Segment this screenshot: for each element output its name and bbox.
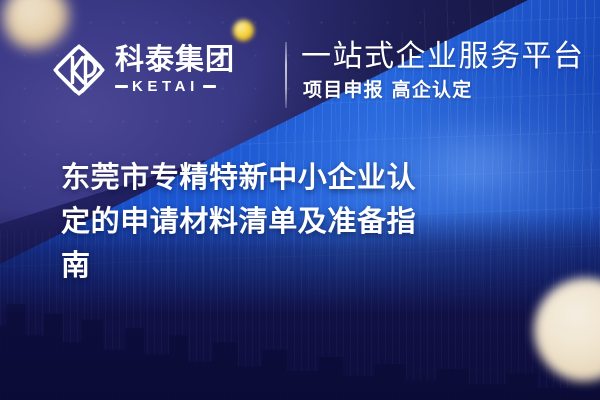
vertical-divider <box>285 42 287 108</box>
brand-logo[interactable]: 科泰集团 KETAI <box>52 43 235 97</box>
dash-left-icon <box>115 85 128 88</box>
brand-name-latin: KETAI <box>132 78 199 95</box>
brand-wordmark: 科泰集团 KETAI <box>115 45 235 96</box>
dash-right-icon <box>203 85 216 88</box>
ketai-diamond-monogram-icon <box>52 43 106 97</box>
bokeh-glow-mid-right <box>404 122 554 200</box>
promo-banner: 科泰集团 KETAI 一站式企业服务平台 项目申报 高企认定 东莞市专精特新中小… <box>0 0 600 400</box>
brand-name-cn: 科泰集团 <box>115 45 235 75</box>
tagline-primary: 一站式企业服务平台 <box>301 40 585 74</box>
bokeh-dot-gold <box>233 20 254 41</box>
tagline-block: 一站式企业服务平台 项目申报 高企认定 <box>301 40 585 100</box>
tagline-secondary: 项目申报 高企认定 <box>303 80 585 101</box>
page-title: 东莞市专精特新中小企业认定的申请材料清单及准备指南 <box>61 155 423 287</box>
brand-latin-row: KETAI <box>115 78 235 95</box>
banner-header: 科泰集团 KETAI 一站式企业服务平台 项目申报 高企认定 <box>0 40 600 112</box>
